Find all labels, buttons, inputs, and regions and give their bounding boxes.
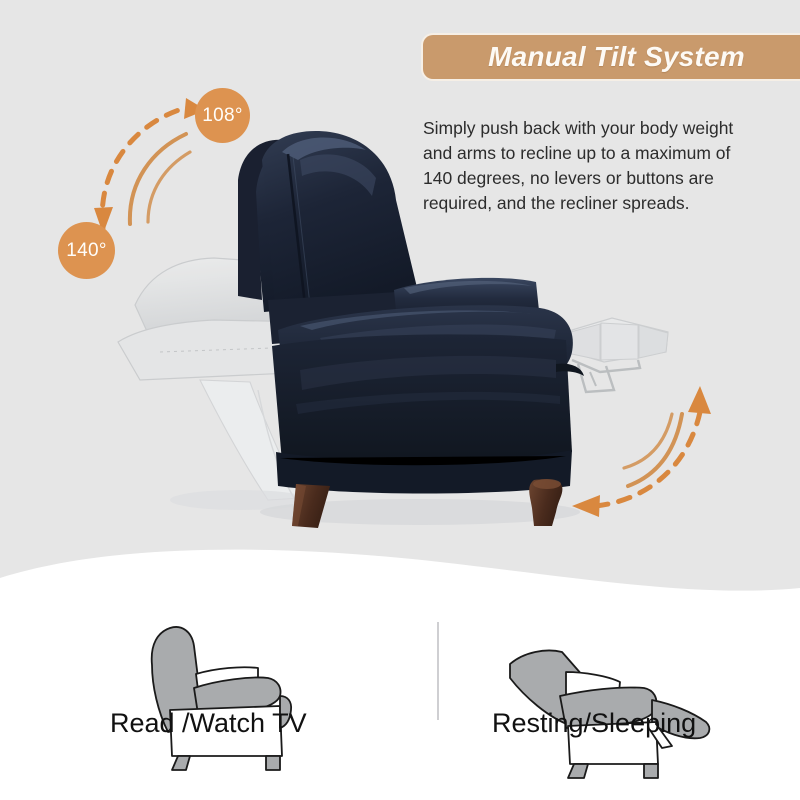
angle-badge-108: 108° xyxy=(195,88,250,143)
mode-label-read-watch-tv: Read /Watch TV xyxy=(110,708,307,739)
angle-badge-140-label: 140° xyxy=(66,240,107,262)
mode-label-resting-sleeping: Resting/Sleeping xyxy=(492,708,696,739)
page-title: Manual Tilt System xyxy=(478,41,745,73)
chair-upright-icon xyxy=(152,627,291,770)
angle-badge-108-label: 108° xyxy=(202,105,243,127)
usage-mode-icons xyxy=(0,560,800,800)
section-title-banner: Manual Tilt System xyxy=(421,33,800,81)
product-illustration-panel: Manual Tilt System Simply push back with… xyxy=(0,0,800,620)
angle-badge-140: 140° xyxy=(58,222,115,279)
infographic-canvas: Manual Tilt System Simply push back with… xyxy=(0,0,800,800)
usage-modes-panel xyxy=(0,560,800,800)
panel-divider xyxy=(437,622,439,720)
panel-background xyxy=(0,0,800,620)
description-text: Simply push back with your body weight a… xyxy=(423,116,763,216)
